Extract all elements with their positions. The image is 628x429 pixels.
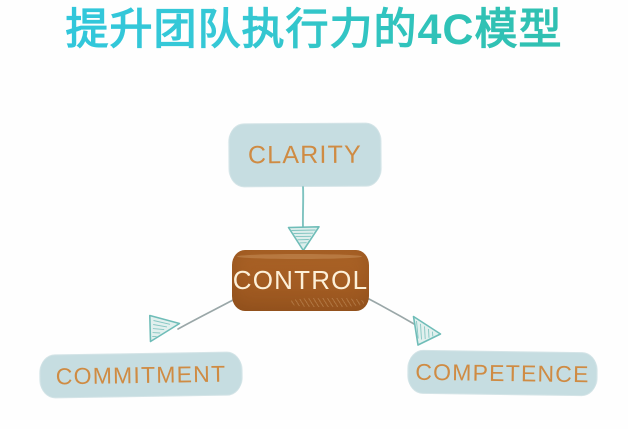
- node-control[interactable]: CONTROL: [232, 250, 369, 311]
- connector-control-to-commitment: [150, 300, 233, 342]
- node-clarity[interactable]: CLARITY: [230, 124, 380, 187]
- node-control-label: CONTROL: [233, 265, 369, 296]
- node-commitment[interactable]: COMMITMENT: [41, 352, 242, 397]
- node-commitment-label: COMMITMENT: [56, 360, 227, 390]
- connector-clarity-to-control: [289, 186, 320, 251]
- node-clarity-label: CLARITY: [248, 140, 362, 170]
- diagram-canvas: CLARITY CONTROL COMMITMENT COMPETENCE: [0, 0, 628, 429]
- node-competence[interactable]: COMPETENCE: [409, 351, 597, 396]
- connector-control-to-competence: [369, 299, 441, 345]
- node-competence-label: COMPETENCE: [415, 358, 590, 387]
